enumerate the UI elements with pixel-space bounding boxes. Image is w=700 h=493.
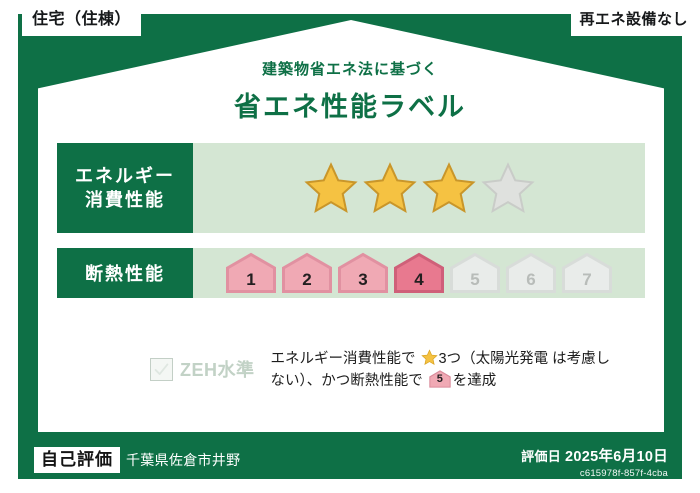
grade-number: 5 <box>449 270 501 290</box>
energy-performance-label: 住宅（住棟） 再エネ設備なし 建築物省エネ法に基づく 省エネ性能ラベル エネルギ… <box>0 0 700 493</box>
energy-label-line2: 消費性能 <box>85 188 165 212</box>
inline-grade-number: 5 <box>429 371 451 388</box>
zeh-row: ZEH水準 エネルギー消費性能で 3つ（太陽光発電 は考慮しない）、かつ断熱性能… <box>150 348 620 393</box>
star-rating <box>303 161 536 215</box>
zeh-description: エネルギー消費性能で 3つ（太陽光発電 は考慮しない）、かつ断熱性能で 5 を達… <box>271 348 621 393</box>
star-filled-icon <box>362 161 418 215</box>
grade-number: 6 <box>505 270 557 290</box>
star-empty-icon <box>480 161 536 215</box>
footer-right: 評価日2025年6月10日 c615978f-857f-4cba <box>521 445 668 479</box>
grade-badge-6: 6 <box>505 252 557 294</box>
grade-badge-7: 7 <box>561 252 613 294</box>
energy-label-line1: エネルギー <box>75 164 175 188</box>
title-block: 建築物省エネ法に基づく 省エネ性能ラベル <box>0 58 700 124</box>
inline-grade-badge: 5 <box>429 370 451 388</box>
evaluation-date: 評価日2025年6月10日 <box>521 445 668 466</box>
insulation-label: 断熱性能 <box>85 260 165 286</box>
evaluation-date-value: 2025年6月10日 <box>565 449 668 465</box>
footer-left: 自己評価 千葉県佐倉市井野 <box>34 447 240 473</box>
inline-star-icon <box>421 349 438 366</box>
grade-number: 3 <box>337 270 389 290</box>
evaluation-type-badge: 自己評価 <box>34 447 120 473</box>
badge-renewable-energy: 再エネ設備なし <box>571 2 696 36</box>
insulation-grades-area: 1234567 <box>193 248 645 298</box>
insulation-performance-row: 断熱性能 1234567 <box>57 248 645 298</box>
star-filled-icon <box>303 161 359 215</box>
energy-performance-row: エネルギー 消費性能 <box>57 143 645 233</box>
grade-number: 4 <box>393 270 445 290</box>
energy-performance-label-box: エネルギー 消費性能 <box>57 143 193 233</box>
grade-badge-2: 2 <box>281 252 333 294</box>
zeh-desc-part1: エネルギー消費性能で <box>271 351 416 367</box>
zeh-label: ZEH水準 <box>180 356 255 382</box>
zeh-desc-part3: を達成 <box>453 373 497 389</box>
grade-badge-1: 1 <box>225 252 277 294</box>
page-title: 省エネ性能ラベル <box>0 85 700 124</box>
grade-badge-3: 3 <box>337 252 389 294</box>
star-filled-icon <box>421 161 477 215</box>
title-subtitle: 建築物省エネ法に基づく <box>0 58 700 79</box>
energy-stars-area <box>193 143 645 233</box>
zeh-mark: ZEH水準 <box>150 356 255 382</box>
grade-scale: 1234567 <box>225 252 613 294</box>
document-id: c615978f-857f-4cba <box>521 468 668 479</box>
grade-number: 7 <box>561 270 613 290</box>
property-address: 千葉県佐倉市井野 <box>126 450 240 470</box>
insulation-performance-label-box: 断熱性能 <box>57 248 193 298</box>
evaluation-date-label: 評価日 <box>521 449 561 464</box>
zeh-desc-star-count: 3つ（太陽光発電 <box>439 351 549 367</box>
badge-building-type: 住宅（住棟） <box>22 4 141 36</box>
zeh-checkbox-icon <box>150 358 173 381</box>
grade-badge-4: 4 <box>393 252 445 294</box>
grade-badge-5: 5 <box>449 252 501 294</box>
grade-number: 2 <box>281 270 333 290</box>
grade-number: 1 <box>225 270 277 290</box>
